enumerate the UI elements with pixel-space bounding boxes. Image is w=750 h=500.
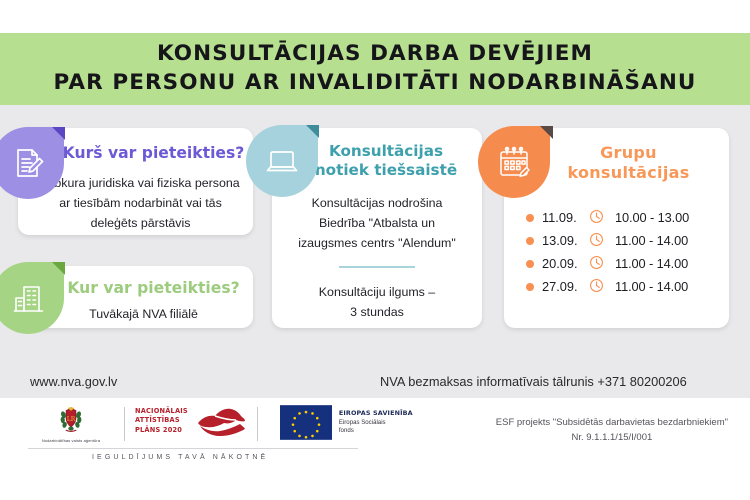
card-who-heading: Kurš var pieteikties? <box>54 144 253 163</box>
schedule-date: 20.09. <box>542 256 588 271</box>
clock-icon <box>589 278 604 293</box>
bullet-dot <box>526 237 534 245</box>
esf-line-1: ESF projekts "Subsidētās darbavietas bez… <box>496 416 728 431</box>
card-fold-corner <box>306 125 319 138</box>
schedule-time: 11.00 - 14.00 <box>615 279 688 294</box>
eu-text-block: EIROPAS SAVIENĪBA Eiropas Sociālais fond… <box>339 409 413 436</box>
bullet-dot <box>526 214 534 222</box>
schedule-time: 11.00 - 14.00 <box>615 256 688 271</box>
card-group-heading-line-2: konsultācijas <box>534 163 723 183</box>
top-white-strip <box>0 0 750 33</box>
logo-divider <box>124 407 125 441</box>
logo-strip: LR Nodarbinātības valsts aģentūra <box>28 405 413 443</box>
duration-line-1: Konsultāciju ilgums – <box>282 282 472 302</box>
card-group-heading: Grupu konsultācijas <box>534 143 723 182</box>
eu-sub-line-1: Eiropas Sociālais <box>339 419 413 428</box>
card-where-heading: Kur var pieteikties? <box>54 279 253 298</box>
provider-line-3: izaugsmes centrs "Alendum" <box>282 233 472 253</box>
card-group-consultations: Grupu konsultācijas 11.09.10.00 - 13.001… <box>504 128 729 328</box>
clock-icon <box>589 232 604 247</box>
eu-title: EIROPAS SAVIENĪBA <box>339 409 413 417</box>
clock-icon <box>589 209 604 224</box>
footer-tagline: IEGULDĪJUMS TAVĀ NĀKOTNĒ <box>92 454 268 461</box>
eu-sub-line-2: fonds <box>339 427 413 436</box>
card-online-provider: Konsultācijas nodrošina Biedrība "Atbals… <box>282 193 472 253</box>
provider-line-1: Konsultācijas nodrošina <box>282 193 472 213</box>
schedule-row: 11.09.10.00 - 13.00 <box>526 206 729 229</box>
schedule-row: 20.09.11.00 - 14.00 <box>526 252 729 275</box>
latvia-map-icon <box>195 405 247 437</box>
logo-divider <box>257 407 258 441</box>
card-where-to-apply: Kur var pieteikties? Tuvākajā NVA filiāl… <box>18 266 253 328</box>
nap-line-3: PLĀNS 2020 <box>135 426 188 436</box>
eu-flag-icon <box>280 405 332 440</box>
schedule-date: 13.09. <box>542 233 588 248</box>
card-online-heading: Konsultācijas notiek tiešsaistē <box>298 142 474 179</box>
schedule-time: 11.00 - 14.00 <box>615 233 688 248</box>
schedule-date: 27.09. <box>542 279 588 294</box>
footer-rule <box>28 448 358 449</box>
schedule-row: 13.09.11.00 - 14.00 <box>526 229 729 252</box>
card-fold-corner <box>52 127 65 140</box>
eu-subtitle: Eiropas Sociālais fonds <box>339 419 413 436</box>
card-who-can-apply: Kurš var pieteikties? Jebkura juridiska … <box>18 128 253 235</box>
logo-footer: LR Nodarbinātības valsts aģentūra <box>0 398 750 500</box>
svg-text:LR: LR <box>67 416 76 423</box>
clock-icon-wrap <box>589 255 604 273</box>
card-fold-corner <box>52 262 65 275</box>
clock-icon-wrap <box>589 278 604 296</box>
card-where-body: Tuvākajā NVA filiālē <box>44 304 243 324</box>
esf-project-info: ESF projekts "Subsidētās darbavietas bez… <box>496 416 728 445</box>
card-online-consultations: Konsultācijas notiek tiešsaistē Konsultā… <box>272 128 482 328</box>
card-fold-corner <box>540 126 553 139</box>
provider-line-2: Biedrība "Atbalsta un <box>282 213 472 233</box>
card-online-duration: Konsultāciju ilgums – 3 stundas <box>282 282 472 322</box>
nva-logo: LR Nodarbinātības valsts aģentūra <box>28 405 114 443</box>
bullet-dot <box>526 260 534 268</box>
title-line-1: KONSULTĀCIJAS DARBA DEVĒJIEM <box>157 40 593 69</box>
nap-line-2: ATTĪSTĪBAS <box>135 416 188 426</box>
schedule-row: 27.09.11.00 - 14.00 <box>526 275 729 298</box>
title-banner: KONSULTĀCIJAS DARBA DEVĒJIEM PAR PERSONU… <box>0 33 750 105</box>
phone-info: NVA bezmaksas informatīvais tālrunis +37… <box>380 374 687 389</box>
clock-icon-wrap <box>589 209 604 227</box>
group-schedule-list: 11.09.10.00 - 13.0013.09.11.00 - 14.0020… <box>504 206 729 298</box>
website-link[interactable]: www.nva.gov.lv <box>30 374 117 389</box>
nap-text-block: NACIONĀLAIS ATTĪSTĪBAS PLĀNS 2020 <box>135 407 188 436</box>
section-divider <box>339 266 415 268</box>
duration-line-2: 3 stundas <box>282 302 472 322</box>
contact-row: www.nva.gov.lv NVA bezmaksas informatīva… <box>0 366 750 396</box>
card-online-heading-line-2: notiek tiešsaistē <box>298 161 474 180</box>
schedule-time: 10.00 - 13.00 <box>615 210 689 225</box>
title-line-2: PAR PERSONU AR INVALIDITĀTI NODARBINĀŠAN… <box>54 69 697 98</box>
esf-line-2: Nr. 9.1.1.1/15/I/001 <box>496 431 728 446</box>
nap-line-1: NACIONĀLAIS <box>135 407 188 417</box>
card-online-heading-line-1: Konsultācijas <box>298 142 474 161</box>
card-group-heading-line-1: Grupu <box>534 143 723 163</box>
card-who-body: Jebkura juridiska vai fiziska persona ar… <box>40 173 241 233</box>
nva-caption: Nodarbinātības valsts aģentūra <box>42 438 100 443</box>
clock-icon-wrap <box>589 232 604 250</box>
infographic-poster: KONSULTĀCIJAS DARBA DEVĒJIEM PAR PERSONU… <box>0 0 750 500</box>
nap-logo: NACIONĀLAIS ATTĪSTĪBAS PLĀNS 2020 <box>135 405 247 437</box>
latvia-coat-of-arms-icon: LR <box>56 405 86 435</box>
bullet-dot <box>526 283 534 291</box>
clock-icon <box>589 255 604 270</box>
schedule-date: 11.09. <box>542 210 588 225</box>
eu-logo: EIROPAS SAVIENĪBA Eiropas Sociālais fond… <box>280 405 413 440</box>
